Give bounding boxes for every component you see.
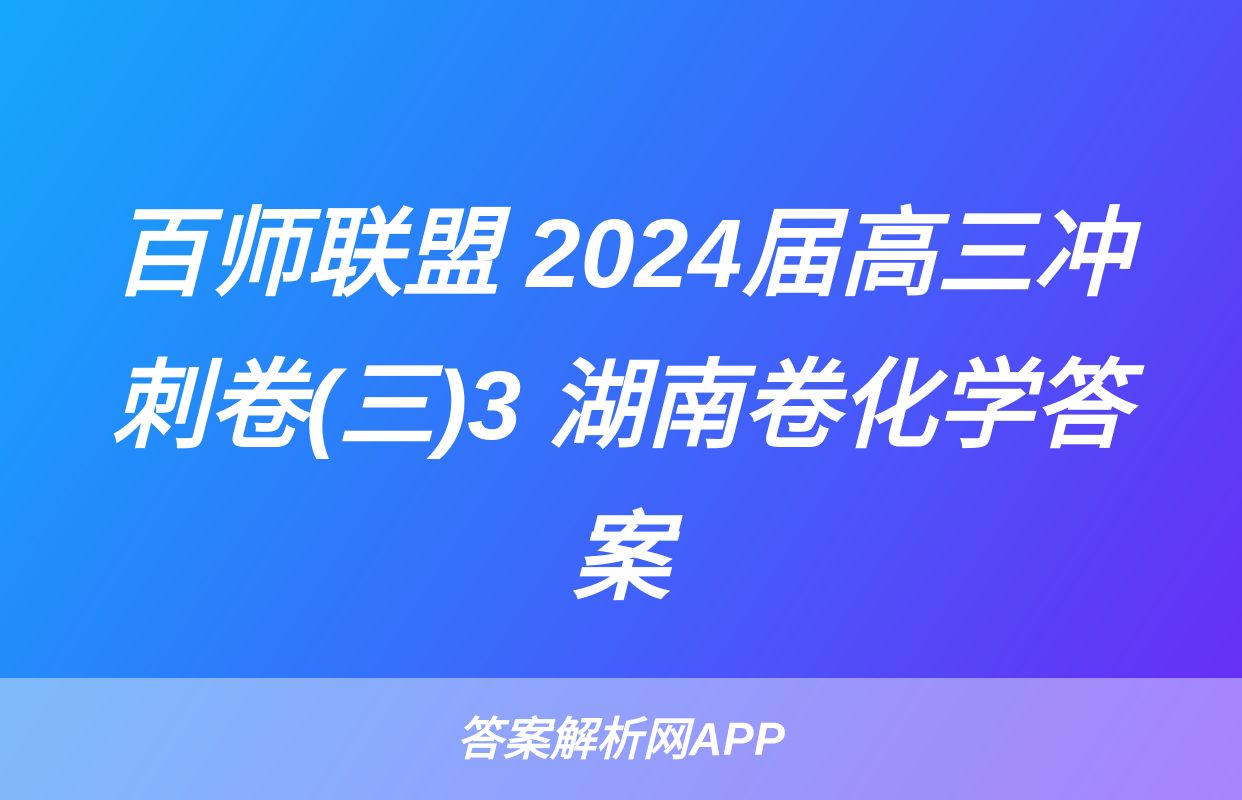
title-line-1: 百师联盟 2024届高三冲 [112,199,1131,308]
page-title: 百师联盟 2024届高三冲刺卷(三)3 湖南卷化学答案 [74,178,1168,634]
poster-canvas: 百师联盟 2024届高三冲刺卷(三)3 湖南卷化学答案 答案解析网APP [0,0,1242,800]
title-line-3: 案 [573,503,670,612]
title-line-2: 刺卷(三)3 湖南卷化学答 [112,351,1131,460]
footer-watermark-band: 答案解析网APP [0,678,1242,800]
app-watermark-label: 答案解析网APP [457,716,786,762]
